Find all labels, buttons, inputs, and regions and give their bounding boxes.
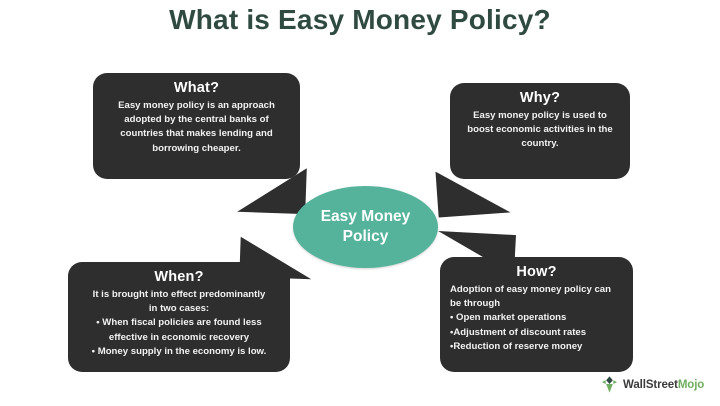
bubble-when-line-3: • When fiscal policies are found less (78, 316, 280, 330)
bubble-when-heading: When? (78, 269, 280, 285)
bubble-why-line-3: country. (460, 137, 620, 151)
page-title: What is Easy Money Policy? (0, 4, 720, 36)
center-node-label: Easy Money Policy (321, 207, 411, 247)
bubble-when: When? It is brought into effect predomin… (68, 262, 290, 372)
bubble-what-line-4: borrowing cheaper. (103, 142, 290, 156)
bubble-when-line-4: effective in economic recovery (78, 331, 280, 345)
bubble-how: How? Adoption of easy money policy can b… (440, 257, 633, 372)
bubble-how-line-5: •Reduction of reserve money (450, 340, 623, 354)
bubble-what-body: Easy money policy is an approach adopted… (103, 99, 290, 156)
bubble-how-line-4: •Adjustment of discount rates (450, 326, 623, 340)
bubble-what-line-1: Easy money policy is an approach (103, 99, 290, 113)
bubble-what-line-3: countries that makes lending and (103, 127, 290, 141)
center-node-line-2: Policy (321, 227, 411, 247)
logo-name-green: Mojo (678, 379, 704, 391)
wallstreetmojo-logo-text: WallStreetMojo (623, 379, 704, 391)
center-node-easy-money-policy: Easy Money Policy (293, 186, 438, 268)
logo-name-dark: WallStreet (623, 379, 678, 391)
bubble-when-line-5: • Money supply in the economy is low. (78, 345, 280, 359)
bubble-how-line-3: • Open market operations (450, 311, 623, 325)
bubble-when-line-1: It is brought into effect predominantly (78, 288, 280, 302)
wallstreetmojo-logo: WallStreetMojo (600, 375, 704, 394)
bubble-what: What? Easy money policy is an approach a… (93, 73, 300, 179)
bubble-why-heading: Why? (460, 90, 620, 106)
bubble-when-body: It is brought into effect predominantly … (78, 288, 280, 359)
bubble-how-heading: How? (450, 264, 623, 280)
bubble-why: Why? Easy money policy is used to boost … (450, 83, 630, 179)
wallstreetmojo-logo-icon (600, 375, 619, 394)
bubble-what-heading: What? (103, 80, 290, 96)
bubble-why-line-2: boost economic activities in the (460, 123, 620, 137)
bubble-what-line-2: adopted by the central banks of (103, 113, 290, 127)
bubble-how-line-1: Adoption of easy money policy can (450, 283, 623, 297)
bubble-when-line-2: in two cases: (78, 302, 280, 316)
bubble-how-line-2: be through (450, 297, 623, 311)
bubble-why-body: Easy money policy is used to boost econo… (460, 109, 620, 152)
bubble-how-body: Adoption of easy money policy can be thr… (450, 283, 623, 354)
bubble-why-line-1: Easy money policy is used to (460, 109, 620, 123)
center-node-line-1: Easy Money (321, 207, 411, 227)
